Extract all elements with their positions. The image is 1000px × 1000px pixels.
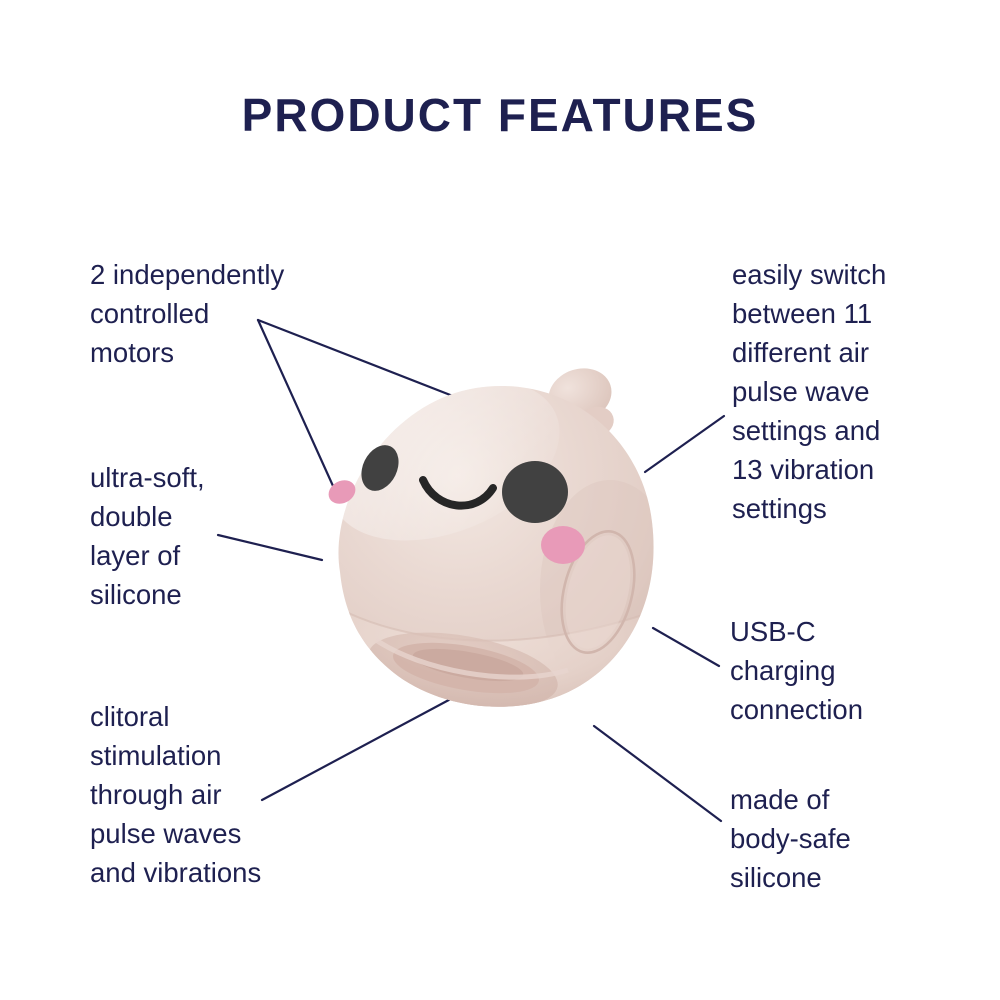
callout-clitoral-stimulation: clitoral stimulation through air pulse w… [90, 697, 360, 892]
callout-motors: 2 independently controlled motors [90, 255, 360, 372]
callout-settings: easily switch between 11 different air p… [732, 255, 932, 528]
callout-body-safe-silicone: made of body-safe silicone [730, 780, 940, 897]
blush-right [541, 526, 585, 564]
callout-silicone: ultra-soft, double layer of silicone [90, 458, 340, 614]
callout-usbc-charging: USB-C charging connection [730, 612, 940, 729]
infographic-canvas: PRODUCT FEATURES [0, 0, 1000, 1000]
right-eye-icon [502, 461, 568, 523]
